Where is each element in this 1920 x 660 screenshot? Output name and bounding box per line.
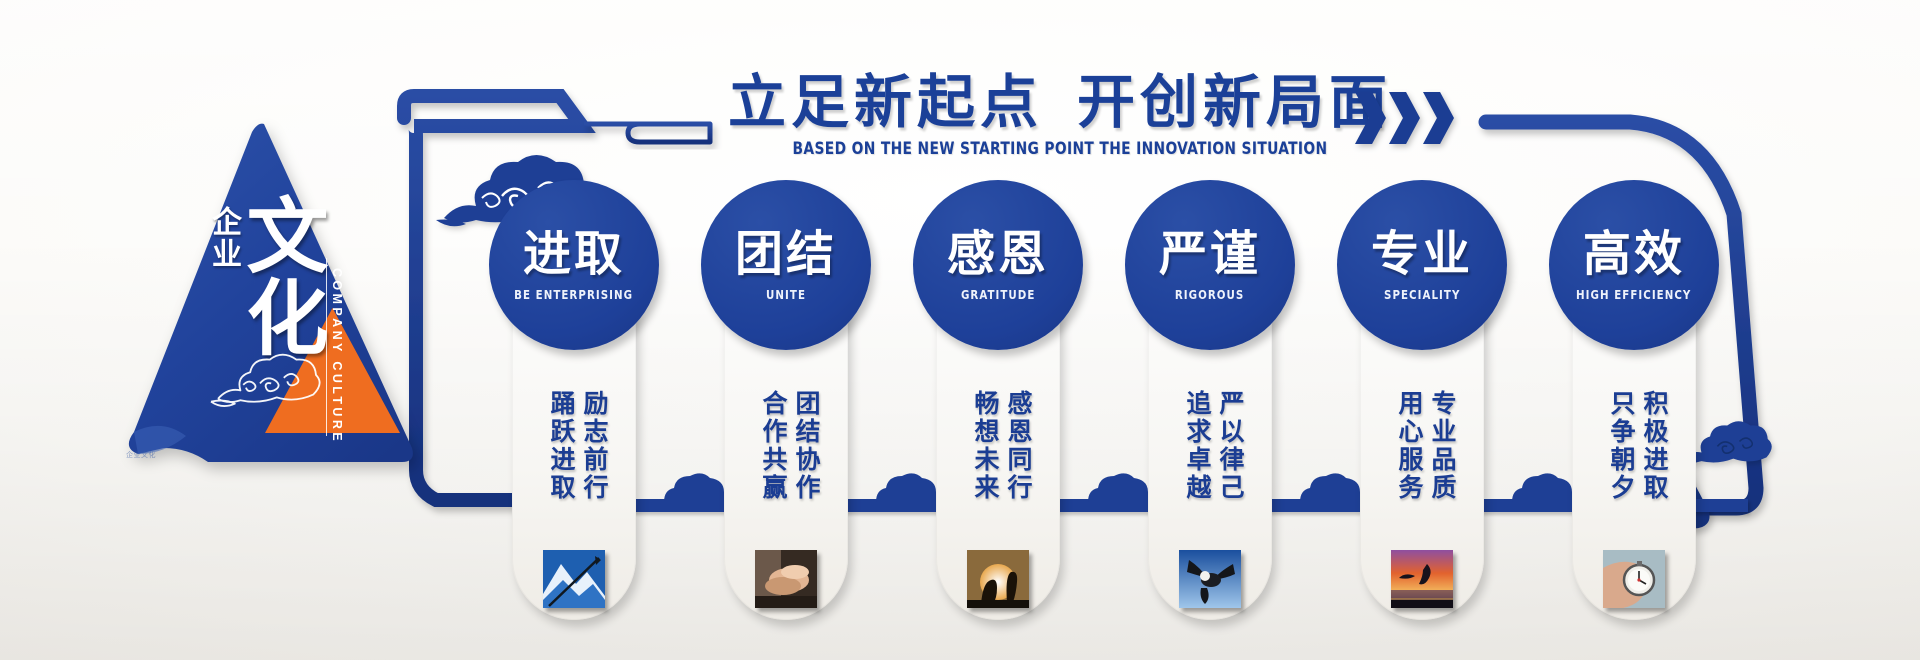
pill-subtitle: SPECIALITY [1384,288,1460,302]
pill-title: 专业 [1371,228,1473,280]
pill-motto-right: 严以律己 [1216,390,1245,540]
culture-pill[interactable]: 专业 SPECIALITY 专业品质 用心服务 [1360,238,1484,620]
pill-badge[interactable]: 专业 SPECIALITY [1337,180,1507,350]
pill-title: 严谨 [1159,228,1261,280]
pill-motto-group: 严以律己 追求卓越 [1168,390,1260,540]
culture-pill[interactable]: 进取 BE ENTERPRISING 励志前行 踊跃进取 [512,238,636,620]
sunset-dancer-photo[interactable] [1391,550,1453,608]
pill-motto-group: 团结协作 合作共赢 [744,390,836,540]
pill-motto-right: 团结协作 [792,390,821,540]
pill-motto-group: 专业品质 用心服务 [1380,390,1472,540]
pill-title: 感恩 [947,228,1049,280]
pill-subtitle: HIGH EFFICIENCY [1576,288,1691,302]
culture-pill[interactable]: 高效 HIGH EFFICIENCY 积极进取 只争朝夕 [1572,238,1696,620]
pill-motto-left: 用心服务 [1395,390,1424,540]
mountain-climbing-photo[interactable] [543,550,605,608]
pill-badge[interactable]: 感恩 GRATITUDE [913,180,1083,350]
pill-subtitle: GRATITUDE [961,288,1035,302]
pill-motto-group: 感恩同行 畅想未来 [956,390,1048,540]
pill-motto-right: 励志前行 [580,390,609,540]
joined-hands-photo[interactable] [755,550,817,608]
helping-silhouette-photo[interactable] [967,550,1029,608]
pill-motto-left: 追求卓越 [1183,390,1212,540]
pill-badge[interactable]: 团结 UNITE [701,180,871,350]
pill-motto-group: 励志前行 踊跃进取 [532,390,624,540]
pill-badge[interactable]: 高效 HIGH EFFICIENCY [1549,180,1719,350]
stopwatch-in-hand-photo[interactable] [1603,550,1665,608]
culture-wall-stage: 立足新起点开创新局面 BASED ON THE NEW STARTING POI… [0,0,1920,660]
pill-row: 进取 BE ENTERPRISING 励志前行 踊跃进取 团结 UNITE 团结… [0,0,1920,660]
pill-motto-right: 积极进取 [1640,390,1669,540]
pill-subtitle: RIGOROUS [1175,288,1245,302]
pill-motto-left: 只争朝夕 [1607,390,1636,540]
pill-subtitle: UNITE [766,288,806,302]
culture-pill[interactable]: 严谨 RIGOROUS 严以律己 追求卓越 [1148,238,1272,620]
pill-motto-left: 合作共赢 [759,390,788,540]
culture-pill[interactable]: 感恩 GRATITUDE 感恩同行 畅想未来 [936,238,1060,620]
pill-title: 高效 [1583,228,1685,280]
flying-eagle-photo[interactable] [1179,550,1241,608]
pill-motto-right: 感恩同行 [1004,390,1033,540]
pill-motto-left: 畅想未来 [971,390,1000,540]
pill-badge[interactable]: 严谨 RIGOROUS [1125,180,1295,350]
pill-motto-group: 积极进取 只争朝夕 [1592,390,1684,540]
pill-title: 进取 [523,228,625,280]
pill-title: 团结 [735,228,837,280]
culture-pill[interactable]: 团结 UNITE 团结协作 合作共赢 [724,238,848,620]
pill-badge[interactable]: 进取 BE ENTERPRISING [489,180,659,350]
pill-motto-right: 专业品质 [1428,390,1457,540]
pill-subtitle: BE ENTERPRISING [515,288,634,302]
pill-motto-left: 踊跃进取 [547,390,576,540]
